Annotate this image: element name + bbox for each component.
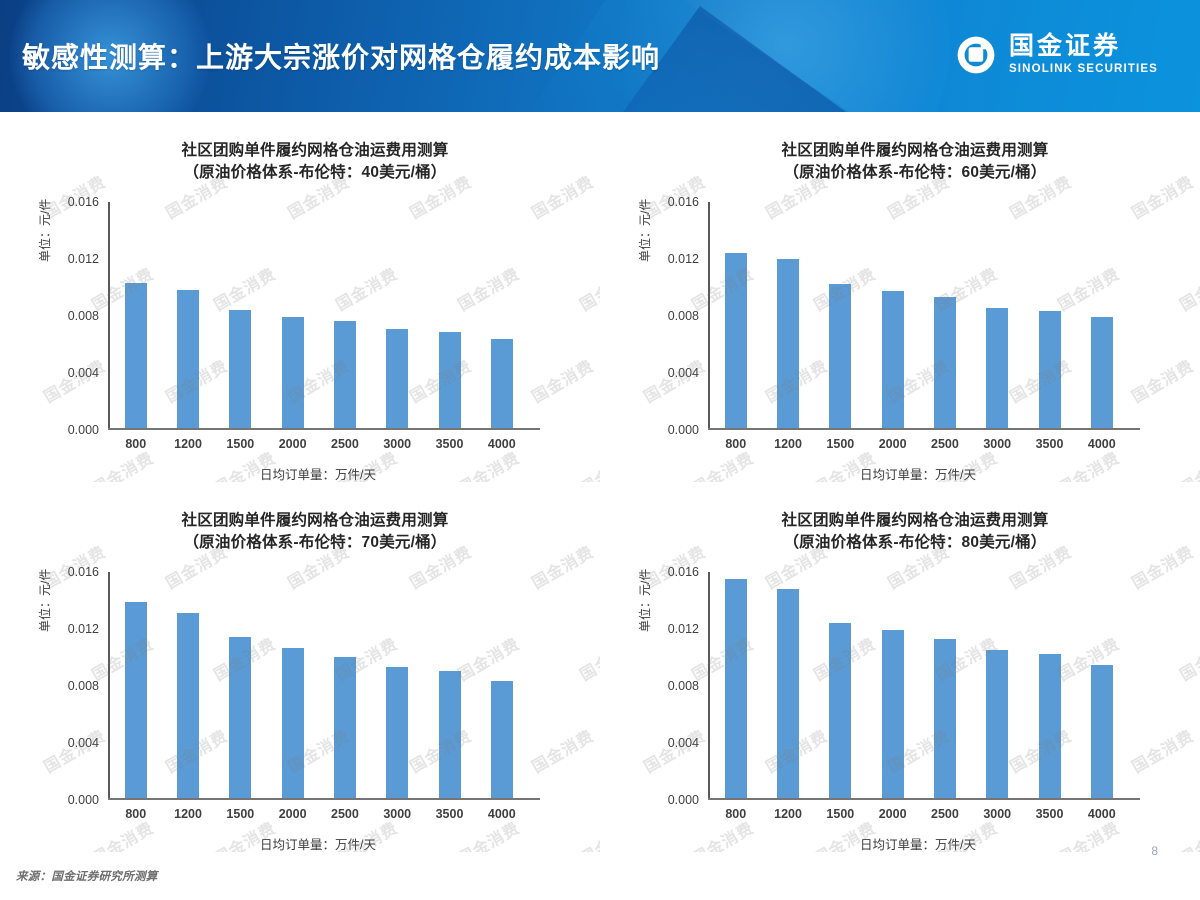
y-tick-label: 0.000: [68, 793, 99, 807]
plot-area-70: 0.0160.0120.0080.0040.000 80012001500200…: [108, 572, 528, 800]
watermark-text: 国金消费: [575, 631, 600, 686]
bar-slot[interactable]: [423, 572, 475, 798]
bar-series-70: [110, 572, 528, 798]
bar-slot[interactable]: [762, 202, 814, 428]
watermark-text: 国金消费: [1127, 353, 1198, 408]
bar-slot[interactable]: [1076, 572, 1128, 798]
bar[interactable]: [725, 579, 747, 798]
x-tick-label: 2500: [919, 807, 971, 821]
y-tick-label: 0.004: [68, 736, 99, 750]
watermark-text: 国金消费: [1175, 815, 1200, 852]
watermark-text: 国金消费: [575, 445, 600, 482]
x-tick-label: 1500: [214, 437, 266, 451]
x-tick-label: 800: [110, 437, 162, 451]
watermark-text: 国金消费: [527, 723, 598, 778]
chart-cell-brent-70: 社区团购单件履约网格仓油运费用测算 （原油价格体系-布伦特：70美元/桶） 单位…: [0, 482, 600, 852]
x-axis-ticks-80: 8001200150020002500300035004000: [710, 807, 1128, 821]
watermark-text: 国金消费: [1175, 631, 1200, 686]
bar[interactable]: [491, 339, 513, 428]
bar-slot[interactable]: [266, 202, 318, 428]
y-tick-label: 0.012: [68, 622, 99, 636]
bar[interactable]: [1091, 665, 1113, 798]
watermark-text: 国金消费: [1175, 445, 1200, 482]
bar-slot[interactable]: [1023, 202, 1075, 428]
y-tick-label: 0.008: [68, 679, 99, 693]
bar[interactable]: [334, 321, 356, 429]
chart-subtitle-line2: （原油价格体系-布伦特：70美元/桶）: [50, 532, 580, 554]
x-tick-label: 1200: [762, 807, 814, 821]
bar[interactable]: [777, 589, 799, 798]
bar[interactable]: [229, 310, 251, 429]
bar[interactable]: [334, 657, 356, 799]
x-tick-label: 3000: [371, 437, 423, 451]
bar-slot[interactable]: [162, 202, 214, 428]
bar[interactable]: [439, 332, 461, 428]
bar[interactable]: [934, 297, 956, 429]
watermark-text: 国金消费: [639, 723, 710, 778]
bar[interactable]: [1039, 311, 1061, 428]
chart-grid: 社区团购单件履约网格仓油运费用测算 （原油价格体系-布伦特：40美元/桶） 单位…: [0, 112, 1200, 852]
plot-area-60: 0.0160.0120.0080.0040.000 80012001500200…: [708, 202, 1128, 430]
y-axis-label-70: 单位：元/件: [36, 569, 53, 632]
bar[interactable]: [725, 253, 747, 428]
chart-cell-brent-60: 社区团购单件履约网格仓油运费用测算 （原油价格体系-布伦特：60美元/桶） 单位…: [600, 112, 1200, 482]
x-tick-label: 1200: [762, 437, 814, 451]
bar[interactable]: [386, 667, 408, 799]
x-axis-label-40: 日均订单量：万件/天: [108, 464, 528, 483]
bar-slot[interactable]: [971, 202, 1023, 428]
bar-slot[interactable]: [814, 572, 866, 798]
x-axis-ticks-60: 8001200150020002500300035004000: [710, 437, 1128, 451]
chart-title-line1: 社区团购单件履约网格仓油运费用测算: [782, 512, 1049, 529]
chart-subtitle-line2: （原油价格体系-布伦特：80美元/桶）: [650, 532, 1180, 554]
chart-cell-brent-40: 社区团购单件履约网格仓油运费用测算 （原油价格体系-布伦特：40美元/桶） 单位…: [0, 112, 600, 482]
bar-slot[interactable]: [971, 572, 1023, 798]
y-tick-label: 0.016: [68, 565, 99, 579]
x-tick-label: 3500: [1023, 807, 1075, 821]
bar[interactable]: [934, 639, 956, 799]
x-tick-label: 1500: [214, 807, 266, 821]
x-tick-label: 800: [110, 807, 162, 821]
y-tick-label: 0.012: [68, 252, 99, 266]
x-tick-label: 2000: [266, 807, 318, 821]
y-tick-label: 0.016: [68, 195, 99, 209]
bar-slot[interactable]: [476, 202, 528, 428]
bar-slot[interactable]: [214, 202, 266, 428]
watermark-text: 国金消费: [1175, 261, 1200, 316]
x-tick-label: 2500: [319, 437, 371, 451]
y-axis-label-40: 单位：元/件: [36, 199, 53, 262]
bar[interactable]: [491, 681, 513, 798]
bar[interactable]: [829, 284, 851, 428]
logo-name-cn: 国金证券: [1009, 34, 1158, 59]
x-tick-label: 2000: [266, 437, 318, 451]
x-tick-label: 2500: [919, 437, 971, 451]
watermark-text: 国金消费: [1127, 723, 1198, 778]
watermark-text: 国金消费: [575, 815, 600, 852]
bar-slot[interactable]: [866, 572, 918, 798]
bar[interactable]: [439, 671, 461, 798]
y-tick-label: 0.004: [668, 366, 699, 380]
x-tick-label: 4000: [476, 437, 528, 451]
chart-title-70: 社区团购单件履约网格仓油运费用测算 （原油价格体系-布伦特：70美元/桶）: [50, 510, 580, 555]
y-tick-label: 0.016: [668, 195, 699, 209]
bar-slot[interactable]: [919, 202, 971, 428]
bar-slot[interactable]: [919, 572, 971, 798]
bar-slot[interactable]: [319, 572, 371, 798]
x-tick-label: 3000: [971, 807, 1023, 821]
x-tick-label: 3500: [423, 437, 475, 451]
bar[interactable]: [1039, 654, 1061, 798]
x-tick-label: 3500: [423, 807, 475, 821]
y-tick-label: 0.004: [68, 366, 99, 380]
x-tick-label: 4000: [476, 807, 528, 821]
chart-title-60: 社区团购单件履约网格仓油运费用测算 （原油价格体系-布伦特：60美元/桶）: [650, 140, 1180, 185]
bar[interactable]: [986, 308, 1008, 428]
source-note: 来源：国金证券研究所测算: [16, 868, 158, 884]
bar-slot[interactable]: [110, 572, 162, 798]
x-axis-label-80: 日均订单量：万件/天: [708, 834, 1128, 853]
plot-area-40: 0.0160.0120.0080.0040.000 80012001500200…: [108, 202, 528, 430]
x-axis-line-80: [708, 798, 1140, 800]
page-number: 8: [1151, 844, 1158, 858]
x-tick-label: 4000: [1076, 807, 1128, 821]
bar-series-60: [710, 202, 1128, 428]
y-axis-label-60: 单位：元/件: [636, 199, 653, 262]
y-axis-label-80: 单位：元/件: [636, 569, 653, 632]
bar[interactable]: [882, 291, 904, 428]
bar-slot[interactable]: [319, 202, 371, 428]
x-axis-line-60: [708, 428, 1140, 430]
watermark-text: 国金消费: [39, 723, 110, 778]
slide: 敏感性测算：上游大宗涨价对网格仓履约成本影响 国金证券 SINOLINK SEC…: [0, 0, 1200, 900]
x-axis-label-70: 日均订单量：万件/天: [108, 834, 528, 853]
y-tick-label: 0.000: [668, 793, 699, 807]
x-tick-label: 4000: [1076, 437, 1128, 451]
y-tick-label: 0.000: [68, 423, 99, 437]
x-axis-line-40: [108, 428, 540, 430]
watermark-text: 国金消费: [39, 353, 110, 408]
bar[interactable]: [1091, 317, 1113, 429]
bar[interactable]: [177, 290, 199, 429]
x-axis-label-60: 日均订单量：万件/天: [708, 464, 1128, 483]
bar-slot[interactable]: [814, 202, 866, 428]
bar-slot[interactable]: [371, 572, 423, 798]
bar[interactable]: [777, 259, 799, 429]
bar-slot[interactable]: [762, 572, 814, 798]
x-tick-label: 1200: [162, 807, 214, 821]
bar[interactable]: [882, 630, 904, 798]
y-tick-label: 0.000: [668, 423, 699, 437]
y-tick-label: 0.016: [668, 565, 699, 579]
bar-slot[interactable]: [476, 572, 528, 798]
bar-slot[interactable]: [710, 572, 762, 798]
logo-name-en: SINOLINK SECURITIES: [1009, 64, 1158, 76]
bar-series-40: [110, 202, 528, 428]
bar[interactable]: [125, 283, 147, 429]
x-axis-ticks-70: 8001200150020002500300035004000: [110, 807, 528, 821]
y-tick-label: 0.012: [668, 252, 699, 266]
watermark-text: 国金消费: [575, 261, 600, 316]
x-tick-label: 800: [710, 807, 762, 821]
bar-slot[interactable]: [162, 572, 214, 798]
x-tick-label: 3500: [1023, 437, 1075, 451]
bar-slot[interactable]: [371, 202, 423, 428]
bar-slot[interactable]: [214, 572, 266, 798]
bar[interactable]: [282, 317, 304, 429]
chart-title-line1: 社区团购单件履约网格仓油运费用测算: [182, 512, 449, 529]
chart-cell-brent-80: 社区团购单件履约网格仓油运费用测算 （原油价格体系-布伦特：80美元/桶） 单位…: [600, 482, 1200, 852]
watermark-text: 国金消费: [639, 353, 710, 408]
y-tick-label: 0.008: [668, 679, 699, 693]
y-tick-label: 0.008: [668, 309, 699, 323]
x-tick-label: 3000: [971, 437, 1023, 451]
company-logo: 国金证券 SINOLINK SECURITIES: [955, 34, 1158, 76]
page-title: 敏感性测算：上游大宗涨价对网格仓履约成本影响: [22, 36, 660, 76]
y-tick-label: 0.012: [668, 622, 699, 636]
x-tick-label: 800: [710, 437, 762, 451]
bar[interactable]: [177, 613, 199, 798]
bar[interactable]: [125, 602, 147, 799]
chart-title-line1: 社区团购单件履约网格仓油运费用测算: [782, 142, 1049, 159]
x-tick-label: 3000: [371, 807, 423, 821]
bar-slot[interactable]: [266, 572, 318, 798]
bar[interactable]: [229, 637, 251, 798]
chart-title-line1: 社区团购单件履约网格仓油运费用测算: [182, 142, 449, 159]
x-tick-label: 2000: [866, 437, 918, 451]
bar-slot[interactable]: [423, 202, 475, 428]
x-axis-ticks-40: 8001200150020002500300035004000: [110, 437, 528, 451]
x-tick-label: 2000: [866, 807, 918, 821]
x-tick-label: 1200: [162, 437, 214, 451]
plot-area-80: 0.0160.0120.0080.0040.000 80012001500200…: [708, 572, 1128, 800]
bar[interactable]: [829, 623, 851, 798]
bar-slot[interactable]: [710, 202, 762, 428]
chart-title-40: 社区团购单件履约网格仓油运费用测算 （原油价格体系-布伦特：40美元/桶）: [50, 140, 580, 185]
chart-subtitle-line2: （原油价格体系-布伦特：60美元/桶）: [650, 162, 1180, 184]
x-tick-label: 2500: [319, 807, 371, 821]
chart-title-80: 社区团购单件履约网格仓油运费用测算 （原油价格体系-布伦特：80美元/桶）: [650, 510, 1180, 555]
bar-series-80: [710, 572, 1128, 798]
sinolink-logo-icon: [955, 34, 997, 76]
bar-slot[interactable]: [1023, 572, 1075, 798]
bar[interactable]: [282, 648, 304, 798]
x-tick-label: 1500: [814, 437, 866, 451]
bar-slot[interactable]: [866, 202, 918, 428]
bar[interactable]: [986, 650, 1008, 799]
bar[interactable]: [386, 329, 408, 428]
chart-subtitle-line2: （原油价格体系-布伦特：40美元/桶）: [50, 162, 580, 184]
x-tick-label: 1500: [814, 807, 866, 821]
logo-text-block: 国金证券 SINOLINK SECURITIES: [1009, 34, 1158, 76]
y-tick-label: 0.004: [668, 736, 699, 750]
watermark-text: 国金消费: [527, 353, 598, 408]
x-axis-line-70: [108, 798, 540, 800]
y-tick-label: 0.008: [68, 309, 99, 323]
bar-slot[interactable]: [1076, 202, 1128, 428]
slide-header: 敏感性测算：上游大宗涨价对网格仓履约成本影响 国金证券 SINOLINK SEC…: [0, 0, 1200, 112]
bar-slot[interactable]: [110, 202, 162, 428]
